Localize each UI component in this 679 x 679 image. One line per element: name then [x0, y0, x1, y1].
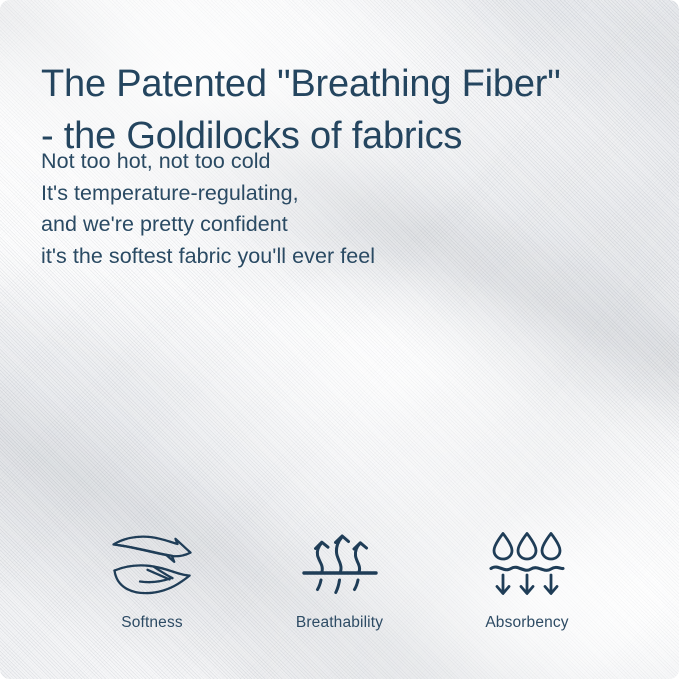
feature-item-softness: Softness	[62, 528, 242, 632]
air-flow-arrows-icon	[301, 528, 379, 600]
subcopy-line-1: Not too hot, not too cold	[41, 146, 375, 178]
feature-item-absorbency: Absorbency	[437, 528, 617, 632]
feature-list: Softness	[0, 528, 679, 632]
feature-label-softness: Softness	[121, 614, 183, 632]
banner-content: The Patented "Breathing Fiber" - the Gol…	[0, 0, 679, 679]
feature-label-absorbency: Absorbency	[485, 614, 568, 632]
feather-on-hand-icon	[109, 528, 195, 600]
subcopy: Not too hot, not too cold It's temperatu…	[41, 146, 375, 272]
feature-label-breathability: Breathability	[296, 614, 383, 632]
feature-item-breathability: Breathability	[250, 528, 430, 632]
subcopy-line-2: It's temperature-regulating,	[41, 178, 375, 210]
headline-line-1: The Patented "Breathing Fiber"	[41, 58, 661, 110]
subcopy-line-3: and we're pretty confident	[41, 209, 375, 241]
fabric-product-banner: The Patented "Breathing Fiber" - the Gol…	[0, 0, 679, 679]
subcopy-line-4: it's the softest fabric you'll ever feel	[41, 241, 375, 273]
water-droplets-absorb-icon	[487, 528, 567, 600]
